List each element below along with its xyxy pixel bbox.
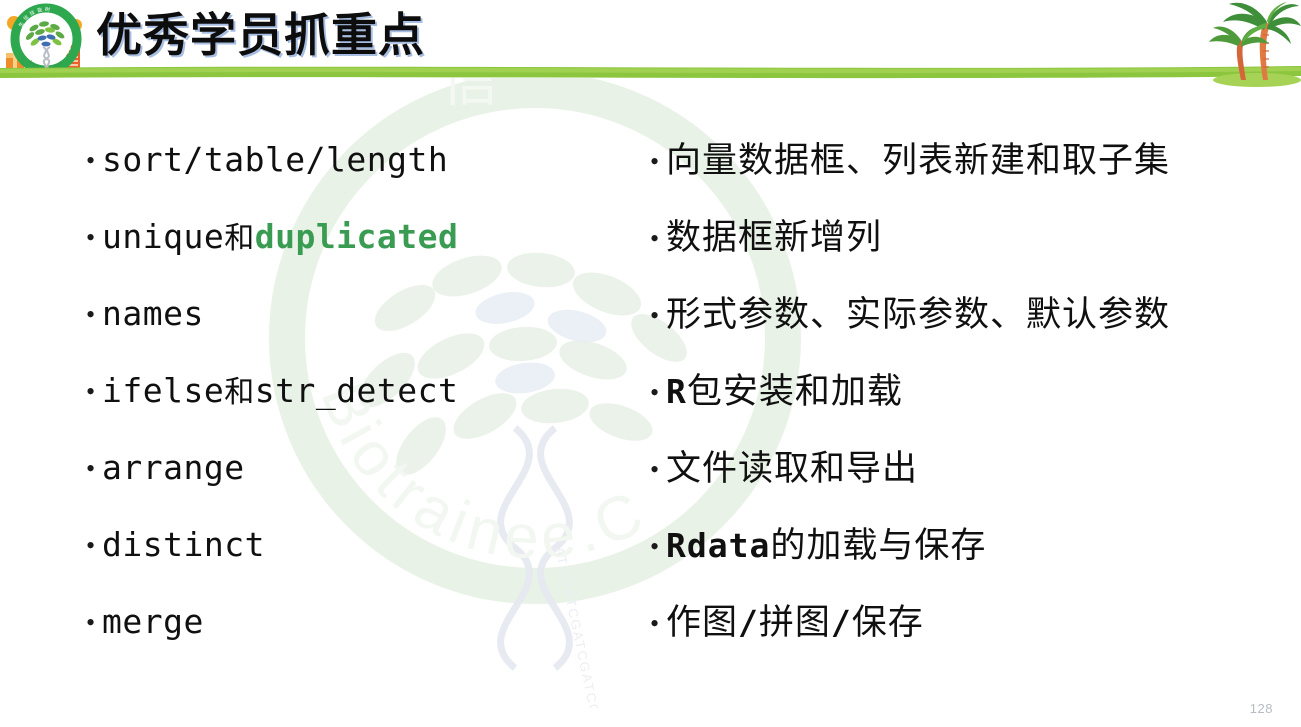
bullet-icon [86,225,102,251]
list-item: ifelse和str_detect [86,371,458,413]
list-item-text-part: duplicated [255,217,459,256]
bullet-icon [650,226,666,252]
bullet-icon [650,303,666,329]
slide-header: biotrainee.com 生信技能树 优秀学员抓重点 [0,0,1301,92]
list-item-label: 数据框新增列 [666,217,882,259]
list-item-text-part: merge [102,602,204,641]
list-item-label: sort/table/length [102,140,448,180]
page-number: 128 [1250,701,1273,716]
bullet-icon [650,534,666,560]
list-item-text-part: 保存 [852,603,924,643]
list-item: unique和duplicated [86,217,458,259]
list-item-label: Rdata的加载与保存 [666,525,986,567]
bullet-icon [86,148,102,174]
list-item: names [86,294,204,334]
list-item-label: unique和duplicated [102,217,458,259]
bullet-icon [650,457,666,483]
list-item-text-part: 向量数据框、列表新建和取子集 [666,141,1170,181]
list-item-text-part: str_detect [255,371,459,410]
list-item-label: 形式参数、实际参数、默认参数 [666,294,1170,336]
list-item: R包安装和加载 [650,371,903,413]
bullet-icon [650,149,666,175]
list-item: 作图/拼图/保存 [650,602,924,644]
list-item-label: 作图/拼图/保存 [666,602,924,644]
list-item-text-part: 文件读取和导出 [666,449,918,489]
list-item-text-part: arrange [102,448,245,487]
list-item-text-part: sort/table/length [102,140,448,179]
page-title: 优秀学员抓重点 [96,6,425,64]
list-item-text-part: 形式参数、实际参数、默认参数 [666,295,1170,335]
header-divider [0,62,1301,84]
list-item-text-part: R [666,372,687,411]
list-item: distinct [86,525,265,565]
bullet-icon [86,456,102,482]
list-item-text-part: 作图 [666,603,738,643]
bullet-icon [86,302,102,328]
list-item-label: distinct [102,525,265,565]
list-item-text-part: ifelse [102,371,224,410]
list-item: 文件读取和导出 [650,448,918,490]
list-item-label: names [102,294,204,334]
list-item-text-part: names [102,294,204,333]
list-item-text-part: / [831,603,852,642]
slide-body: sort/table/lengthunique和duplicatednamesi… [0,92,1301,692]
bullet-icon [86,610,102,636]
list-item-text-part: 包安装和加载 [687,372,903,412]
list-item: Rdata的加载与保存 [650,525,986,567]
list-item-label: merge [102,602,204,642]
list-item-text-part: 数据框新增列 [666,218,882,258]
list-item-label: 向量数据框、列表新建和取子集 [666,140,1170,182]
list-item-label: ifelse和str_detect [102,371,458,413]
bullet-icon [86,533,102,559]
list-item: merge [86,602,204,642]
bullet-icon [86,379,102,405]
list-item-text-part: unique [102,217,224,256]
list-item-text-part: 的加载与保存 [770,526,986,566]
list-item-text-part: 和 [224,375,255,410]
list-item-text-part: Rdata [666,526,770,565]
list-item-text-part: distinct [102,525,265,564]
slide-root: Biotrainee.C 信 技 ATCGATCGATCGATCG 101010… [0,0,1301,727]
list-item: 形式参数、实际参数、默认参数 [650,294,1170,336]
list-item-text-part: 和 [224,221,255,256]
bullet-icon [650,611,666,637]
list-item-label: arrange [102,448,245,488]
bullet-icon [650,380,666,406]
list-item: 向量数据框、列表新建和取子集 [650,140,1170,182]
palm-tree-decoration-icon [1185,0,1301,90]
list-item-text-part: 拼图 [759,603,831,643]
list-item: 数据框新增列 [650,217,882,259]
list-item-label: 文件读取和导出 [666,448,918,490]
list-item: sort/table/length [86,140,448,180]
list-item: arrange [86,448,245,488]
list-item-text-part: / [738,603,759,642]
list-item-label: R包安装和加载 [666,371,903,413]
